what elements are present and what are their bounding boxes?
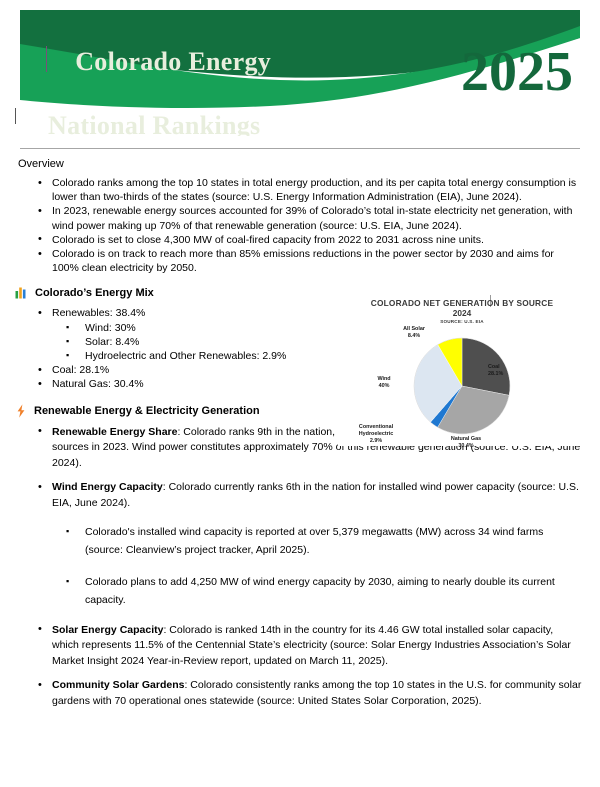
pie-label-coal-value: 28.1% [488,371,503,377]
wind-sublist: Colorado's installed wind capacity is re… [52,523,582,610]
list-item: In 2023, renewable energy sources accoun… [0,204,600,232]
list-item-label: Renewables: 38.4% [52,307,145,319]
page-title: Colorado Energy National Rankings [48,14,271,136]
pie-label-hydro-name2: Hydroelectric [359,431,393,437]
chart-subtitle: 2024 [338,308,586,318]
net-generation-pie-chart: COLORADO NET GENERATION BY SOURCE 2024 S… [338,296,586,446]
list-item-term: Community Solar Gardens [52,679,184,691]
pie-label-solar-name: All Solar [403,326,425,332]
header-divider [20,148,580,149]
pie-label-all-solar: All Solar 8.4% [388,326,440,340]
overview-heading: Overview [18,158,600,170]
list-item-term: Renewable Energy Share [52,426,177,438]
pie-label-hydro-value: 2.9% [370,438,382,444]
pie-label-hydro-name1: Conventional [359,424,393,430]
pie-label-coal: Coal 28.1% [488,364,544,378]
list-item-term: Solar Energy Capacity [52,624,163,636]
text-cursor [46,46,47,72]
pie-label-wind: Wind 40% [364,376,404,390]
pie-label-gas-name: Natural Gas [451,436,481,442]
chart-title: COLORADO NET GENERATION BY SOURCE [338,298,586,308]
list-item: Wind Energy Capacity: Colorado currently… [0,480,600,609]
list-item: Colorado's installed wind capacity is re… [52,523,582,560]
page-title-line2: National Rankings [48,110,271,136]
overview-bullet-list: Colorado ranks among the top 10 states i… [0,176,600,275]
bar-chart-icon [15,286,28,299]
list-item-term: Wind Energy Capacity [52,481,163,493]
pie-label-solar-value: 8.4% [408,333,420,339]
energy-mix-heading: Colorado’s Energy Mix [35,287,154,299]
list-item: Solar Energy Capacity: Colorado is ranke… [0,623,600,670]
list-item: Colorado plans to add 4,250 MW of wind e… [52,573,582,610]
pie-label-gas-value: 30.4% [458,443,473,449]
pie-label-wind-value: 40% [379,383,390,389]
pie-label-coal-name: Coal [488,364,500,370]
renewables-list: Renewable Energy Share: Colorado ranks 9… [0,425,600,710]
page-header: Colorado Energy National Rankings 2025 [0,0,600,136]
list-item: Colorado is set to close 4,300 MW of coa… [0,233,600,247]
lightning-bolt-icon [15,404,27,418]
pie-label-hydroelectric: Conventional Hydroelectric 2.9% [344,424,408,445]
pie-area: Coal 28.1% Natural Gas 30.4% Conventiona… [338,324,586,446]
list-item: Colorado ranks among the top 10 states i… [0,176,600,204]
renewables-heading: Renewable Energy & Electricity Generatio… [34,405,260,417]
list-item: Colorado is on track to reach more than … [0,247,600,275]
pie-label-natural-gas: Natural Gas 30.4% [434,436,498,450]
page-title-line1: Colorado Energy [75,47,271,76]
list-item: Community Solar Gardens: Colorado consis… [0,678,600,709]
header-year: 2025 [461,44,573,100]
margin-text-cursor [15,108,16,124]
pie-label-wind-name: Wind [377,376,390,382]
